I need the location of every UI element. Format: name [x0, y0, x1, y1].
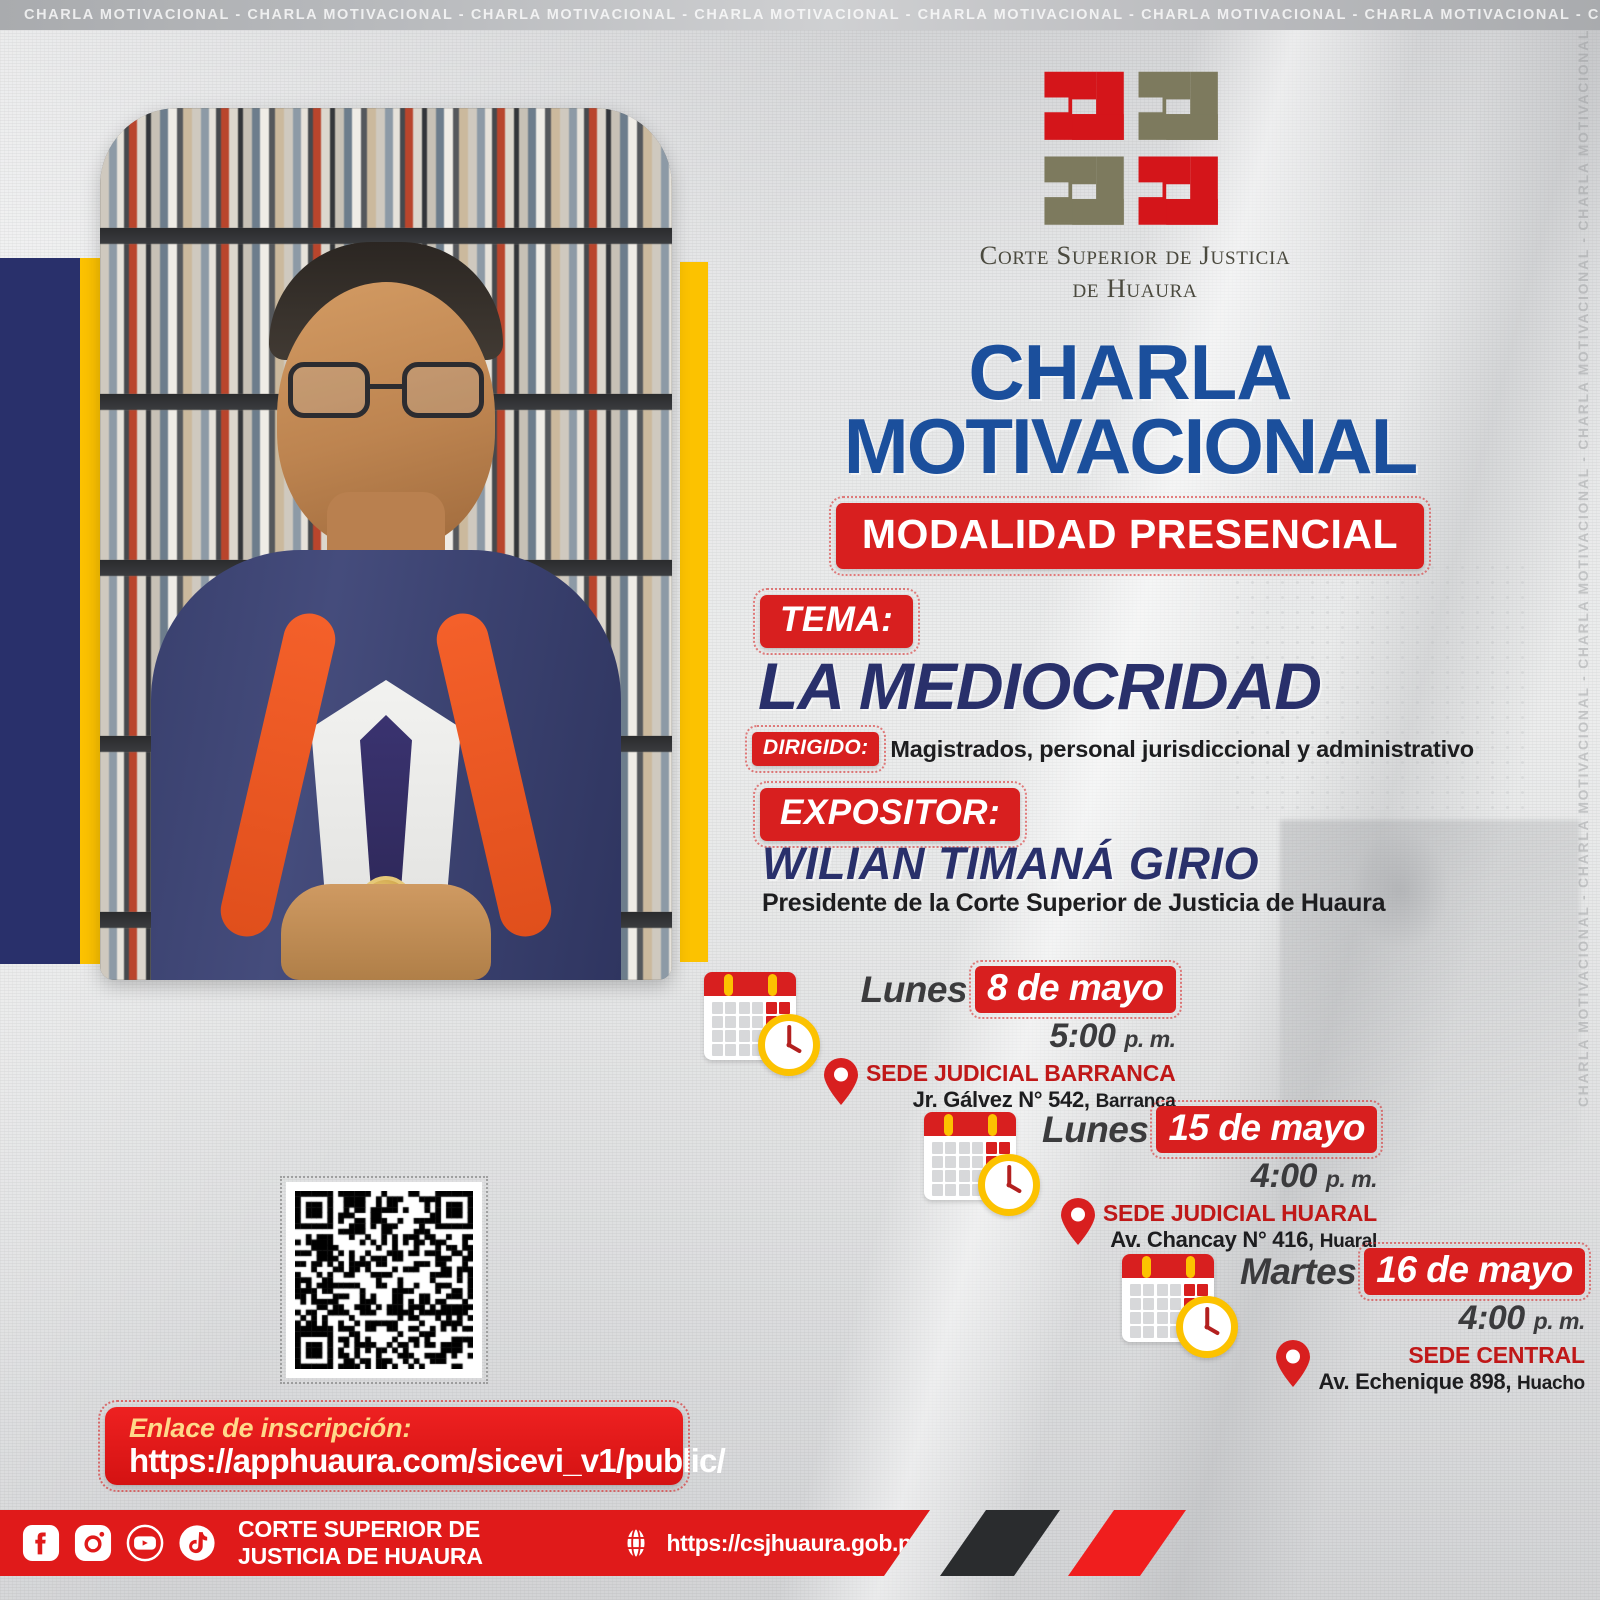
modality-badge: MODALIDAD PRESENCIAL [836, 503, 1424, 569]
event-text: Martes 16 de mayo 4:00 p. m. SEDE CENTRA… [1240, 1242, 1585, 1395]
event-item: Martes 16 de mayo 4:00 p. m. SEDE CENTRA… [1118, 1242, 1585, 1395]
title-line-2: MOTIVACIONAL [700, 409, 1560, 483]
eyeglasses-icon [288, 362, 484, 420]
event-date: 16 de mayo [1364, 1248, 1585, 1295]
tiktok-icon[interactable] [178, 1524, 216, 1562]
modality-badge-wrap: MODALIDAD PRESENCIAL [700, 503, 1560, 569]
footer-red-panel: CORTE SUPERIOR DE JUSTICIA DE HUAURA htt… [0, 1510, 930, 1576]
facebook-icon[interactable] [22, 1524, 60, 1562]
clock-icon [978, 1154, 1040, 1216]
speaker-role: Presidente de la Corte Superior de Justi… [762, 889, 1582, 918]
registration-url[interactable]: https://apphuaura.com/sicevi_v1/public/ [129, 1442, 683, 1480]
footer-org-name: CORTE SUPERIOR DE JUSTICIA DE HUAURA [238, 1516, 587, 1570]
topic-title: LA MEDIOCRIDAD [758, 648, 1558, 724]
speaker-name: WILIAN TIMANÁ GIRIO [762, 838, 1562, 890]
footer-website[interactable]: https://csjhuaura.gob.pe/ [667, 1530, 930, 1557]
audience-label-badge: DIRIGIDO: [752, 732, 879, 766]
event-time-value: 4:00 [1251, 1157, 1317, 1195]
clasped-hands [281, 884, 491, 980]
event-icons [700, 960, 822, 1078]
registration-link-box[interactable]: Enlace de inscripción: https://apphuaura… [105, 1407, 683, 1485]
map-pin-icon [1274, 1340, 1312, 1388]
event-meridiem: p. m. [1124, 1026, 1175, 1052]
event-venue: SEDE CENTRAL [1318, 1342, 1584, 1369]
footer-bar: CORTE SUPERIOR DE JUSTICIA DE HUAURA htt… [0, 1510, 1600, 1576]
event-date-line: Lunes 15 de mayo [1042, 1106, 1377, 1153]
title-line-1: CHARLA [700, 335, 1560, 409]
event-address-street: Av. Echenique 898, [1318, 1369, 1511, 1394]
youtube-icon[interactable] [126, 1524, 164, 1562]
map-pin-icon [1059, 1198, 1097, 1246]
event-venue: SEDE JUDICIAL BARRANCA [866, 1060, 1176, 1087]
pj-chakana-logo-icon [1040, 68, 1226, 234]
event-address: Av. Echenique 898, Huacho [1318, 1369, 1584, 1395]
audience-row: DIRIGIDO: Magistrados, personal jurisdic… [752, 732, 1474, 766]
footer-dark-stripe [940, 1510, 1060, 1576]
event-meridiem: p. m. [1326, 1166, 1377, 1192]
event-text: Lunes 8 de mayo 5:00 p. m. SEDE JUDICIAL… [822, 960, 1176, 1113]
speaker-figure [100, 420, 672, 980]
event-time-value: 5:00 [1049, 1017, 1115, 1055]
event-meridiem: p. m. [1534, 1308, 1585, 1334]
event-address-city: Huacho [1517, 1373, 1585, 1394]
event-venue: SEDE JUDICIAL HUARAL [1103, 1200, 1377, 1227]
event-date-line: Lunes 8 de mayo [822, 966, 1176, 1013]
top-marquee-band: CHARLA MOTIVACIONAL - CHARLA MOTIVACIONA… [0, 0, 1600, 30]
right-marquee-text: CHARLA MOTIVACIONAL - CHARLA MOTIVACIONA… [1575, 29, 1591, 1107]
map-pin-icon [822, 1058, 860, 1106]
speaker-label-wrap: EXPOSITOR: [760, 788, 1020, 841]
audience-text: Magistrados, personal jurisdiccional y a… [890, 736, 1474, 763]
event-time: 5:00 p. m. [822, 1017, 1176, 1056]
topic-label-wrap: TEMA: [760, 595, 913, 648]
clock-icon [758, 1014, 820, 1076]
event-date: 15 de mayo [1156, 1106, 1377, 1153]
event-place: SEDE CENTRAL Av. Echenique 898, Huacho [1240, 1342, 1585, 1395]
speaker-photo [100, 108, 672, 980]
topic-label-badge: TEMA: [760, 595, 913, 648]
event-date: 8 de mayo [975, 966, 1175, 1013]
event-icons [1118, 1242, 1240, 1360]
event-time-value: 4:00 [1459, 1299, 1525, 1337]
event-weekday: Lunes [861, 969, 967, 1011]
speaker-label-badge: EXPOSITOR: [760, 788, 1020, 841]
qr-code[interactable] [286, 1182, 482, 1378]
event-date-line: Martes 16 de mayo [1240, 1248, 1585, 1295]
top-marquee-text: CHARLA MOTIVACIONAL - CHARLA MOTIVACIONA… [0, 7, 1600, 23]
event-text: Lunes 15 de mayo 4:00 p. m. SEDE JUDICIA… [1042, 1100, 1377, 1253]
clock-icon [1176, 1296, 1238, 1358]
brand-line-2: de Huaura [870, 273, 1400, 304]
footer-red-stripe [1068, 1510, 1186, 1576]
instagram-icon[interactable] [74, 1524, 112, 1562]
page-title: CHARLA MOTIVACIONAL [700, 335, 1560, 483]
event-icons [920, 1100, 1042, 1218]
globe-icon [619, 1526, 653, 1560]
event-item: Lunes 15 de mayo 4:00 p. m. SEDE JUDICIA… [920, 1100, 1377, 1253]
event-time: 4:00 p. m. [1240, 1299, 1585, 1338]
event-item: Lunes 8 de mayo 5:00 p. m. SEDE JUDICIAL… [700, 960, 1176, 1113]
event-time: 4:00 p. m. [1042, 1157, 1377, 1196]
event-weekday: Lunes [1042, 1109, 1148, 1151]
brand-wordmark: Corte Superior de Justicia de Huaura [870, 240, 1400, 304]
event-weekday: Martes [1240, 1251, 1356, 1293]
qr-code-image [295, 1191, 473, 1369]
registration-label: Enlace de inscripción: [129, 1413, 683, 1444]
brand-line-1: Corte Superior de Justicia [870, 240, 1400, 271]
poster-canvas: CHARLA MOTIVACIONAL - CHARLA MOTIVACIONA… [0, 0, 1600, 1600]
